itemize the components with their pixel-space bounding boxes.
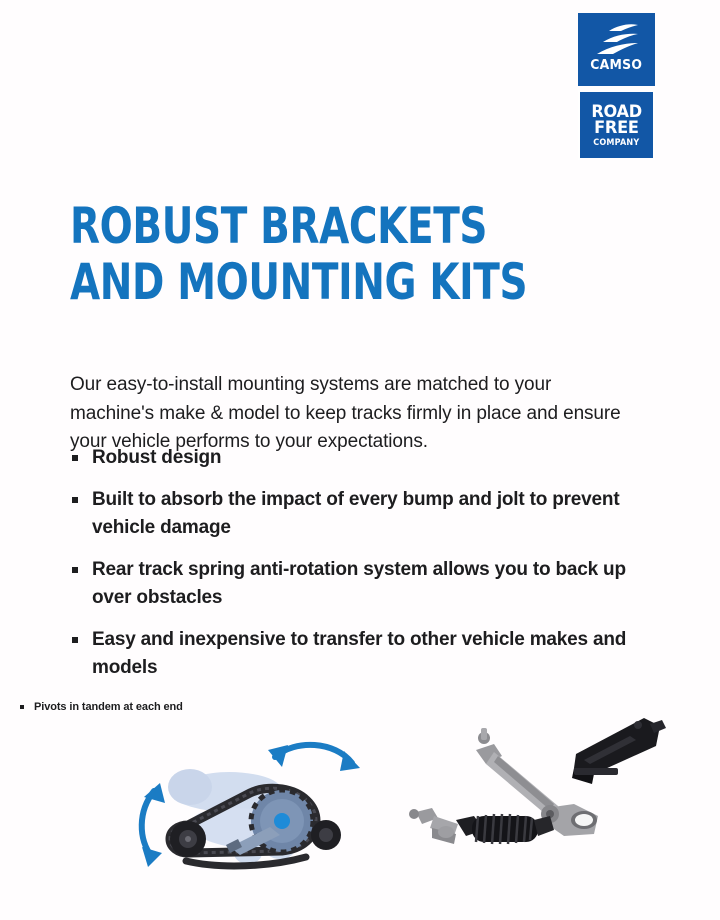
track-spring-assembly-photo <box>409 808 554 844</box>
road-free-company-badge: ROAD FREE COMPANY <box>578 90 655 160</box>
diagram-caption: Pivots in tandem at each end <box>18 700 183 714</box>
pivot-hub-icon <box>274 813 290 829</box>
list-item: Rear track spring anti-rotation system a… <box>70 556 640 612</box>
diagram-caption-label: Pivots in tandem at each end <box>34 701 183 713</box>
feature-list: Robust design Built to absorb the impact… <box>70 444 640 696</box>
pivot-arrow-top <box>268 745 360 771</box>
list-item-label: Rear track spring anti-rotation system a… <box>92 559 626 608</box>
brand-logo-stack: CAMSO ROAD FREE COMPANY <box>578 13 655 160</box>
list-item-label: Built to absorb the impact of every bump… <box>92 489 619 538</box>
product-photo-group <box>398 712 708 877</box>
square-bullet-icon <box>72 455 78 461</box>
page-title: ROBUST BRACKETS AND MOUNTING KITS <box>70 198 507 310</box>
badge-line-company: COMPANY <box>593 139 639 148</box>
track-system-pivot-diagram <box>130 735 385 885</box>
square-bullet-icon <box>20 705 24 709</box>
camso-wordmark: CAMSO <box>591 59 643 73</box>
page-title-line-1: ROBUST BRACKETS <box>70 198 507 254</box>
list-item: Built to absorb the impact of every bump… <box>70 486 640 542</box>
page-title-line-2: AND MOUNTING KITS <box>70 254 507 310</box>
square-bullet-icon <box>72 497 78 503</box>
list-item: Robust design <box>70 444 640 472</box>
square-bullet-icon <box>72 637 78 643</box>
camso-logo-box: CAMSO <box>578 13 655 86</box>
pivot-arrow-left <box>142 783 165 867</box>
square-bullet-icon <box>72 567 78 573</box>
mounting-kit-bracket-photo <box>572 718 666 784</box>
camso-chevron-icon <box>594 22 640 56</box>
list-item-label: Easy and inexpensive to transfer to othe… <box>92 629 626 678</box>
list-item-label: Robust design <box>92 447 221 468</box>
list-item: Easy and inexpensive to transfer to othe… <box>70 626 640 682</box>
badge-line-free: FREE <box>594 120 638 136</box>
